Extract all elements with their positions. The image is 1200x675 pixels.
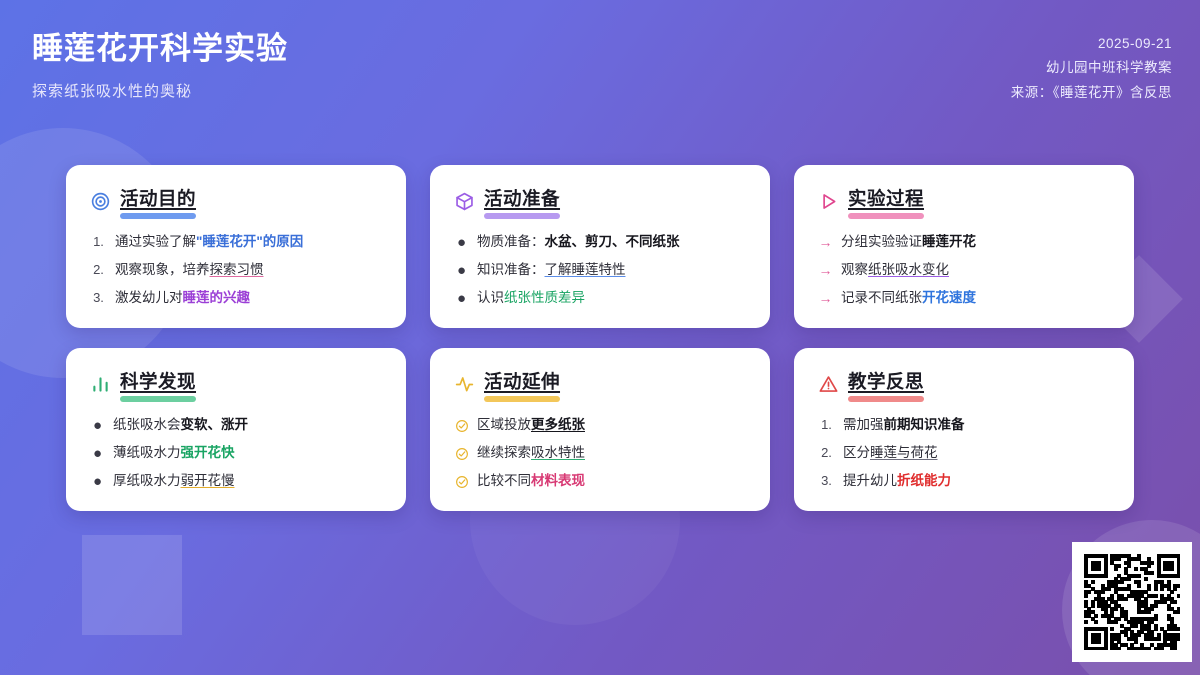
item-highlight: 水盆、剪刀、不同纸张 — [545, 234, 680, 249]
list-marker-bullet: ● — [454, 234, 469, 251]
page-title: 睡莲花开科学实验 — [32, 30, 288, 69]
list-item-text: 区分睡莲与荷花 — [843, 445, 1112, 462]
list-item-text: 提升幼儿折纸能力 — [843, 473, 1112, 490]
card-items: ●纸张吸水会变软、涨开●薄纸吸水力强开花快●厚纸吸水力弱开花慢 — [90, 417, 384, 490]
card-title-underline — [848, 213, 924, 219]
item-text-pre: 比较不同 — [477, 473, 531, 488]
card-items: 1.通过实验了解"睡莲花开"的原因2.观察现象，培养探索习惯3.激发幼儿对睡莲的… — [90, 234, 384, 307]
list-item: 区域投放更多纸张 — [454, 417, 748, 434]
card-title: 活动延伸 — [484, 371, 560, 392]
card-title-underline — [484, 213, 560, 219]
list-item: 2.区分睡莲与荷花 — [818, 445, 1112, 462]
item-highlight: 更多纸张 — [531, 417, 585, 432]
list-marker-number: 3. — [90, 290, 107, 307]
list-item-text: 区域投放更多纸张 — [477, 417, 748, 434]
list-item-text: 比较不同材料表现 — [477, 473, 748, 490]
card-activity-preparation[interactable]: 活动准备●物质准备：水盆、剪刀、不同纸张●知识准备：了解睡莲特性●认识纸张性质差… — [430, 165, 770, 328]
list-item-text: 知识准备：了解睡莲特性 — [477, 262, 748, 279]
list-item: ●纸张吸水会变软、涨开 — [90, 417, 384, 434]
item-highlight: 睡莲的兴趣 — [183, 290, 251, 305]
card-header: 教学反思 — [818, 368, 1112, 401]
item-highlight: 材料表现 — [531, 473, 585, 488]
list-item-text: 物质准备：水盆、剪刀、不同纸张 — [477, 234, 748, 251]
list-item-text: 记录不同纸张开花速度 — [841, 290, 1112, 307]
item-text-pre: 通过实验了解 — [115, 234, 196, 249]
item-text-pre: 知识准备： — [477, 262, 545, 277]
card-items: ●物质准备：水盆、剪刀、不同纸张●知识准备：了解睡莲特性●认识纸张性质差异 — [454, 234, 748, 307]
item-highlight: 吸水特性 — [531, 445, 585, 460]
list-marker-bullet: ● — [454, 290, 469, 307]
item-highlight: "睡莲花开"的原因 — [196, 234, 303, 249]
bar-chart-icon — [90, 374, 111, 395]
card-title-underline — [848, 396, 924, 402]
list-item-text: 通过实验了解"睡莲花开"的原因 — [115, 234, 384, 251]
activity-pulse-icon — [454, 374, 475, 395]
header-meta: 2025-09-21 幼儿园中班科学教案 来源：《睡莲花开》含反思 — [1011, 30, 1172, 101]
item-highlight: 开花速度 — [922, 290, 976, 305]
item-text-pre: 提升幼儿 — [843, 473, 897, 488]
card-items: 区域投放更多纸张继续探索吸水特性比较不同材料表现 — [454, 417, 748, 490]
check-circle-icon — [455, 447, 469, 461]
list-marker-number: 1. — [90, 234, 107, 251]
item-highlight: 前期知识准备 — [884, 417, 965, 432]
list-item: →分组实验验证睡莲开花 — [818, 234, 1112, 251]
item-highlight: 了解睡莲特性 — [545, 262, 626, 277]
play-triangle-icon — [818, 191, 839, 212]
list-item: 1.需加强前期知识准备 — [818, 417, 1112, 434]
list-item-text: 分组实验验证睡莲开花 — [841, 234, 1112, 251]
card-title-underline — [120, 213, 196, 219]
card-title-wrap: 实验过程 — [848, 185, 924, 218]
list-marker-bullet: ● — [90, 417, 105, 434]
decorative-square-left — [82, 535, 182, 635]
item-highlight: 探索习惯 — [210, 262, 264, 277]
item-highlight: 纸张吸水变化 — [868, 262, 949, 277]
list-marker-number: 1. — [818, 417, 835, 434]
list-item: ●厚纸吸水力弱开花慢 — [90, 473, 384, 490]
list-item: ●薄纸吸水力强开花快 — [90, 445, 384, 462]
page-subtitle: 探索纸张吸水性的奥秘 — [32, 80, 288, 101]
slide-header: 睡莲花开科学实验 探索纸张吸水性的奥秘 2025-09-21 幼儿园中班科学教案… — [0, 0, 1200, 140]
card-title: 教学反思 — [848, 371, 924, 392]
item-highlight: 变软、涨开 — [181, 417, 249, 432]
warning-triangle-icon — [818, 374, 839, 395]
item-text-pre: 激发幼儿对 — [115, 290, 183, 305]
item-highlight: 弱开花慢 — [181, 473, 235, 488]
card-title: 实验过程 — [848, 188, 924, 209]
item-highlight: 睡莲与荷花 — [870, 445, 938, 460]
item-highlight: 睡莲开花 — [922, 234, 976, 249]
list-item: 3.提升幼儿折纸能力 — [818, 473, 1112, 490]
list-item: →记录不同纸张开花速度 — [818, 290, 1112, 307]
list-marker-bullet: ● — [454, 262, 469, 279]
item-text-pre: 物质准备： — [477, 234, 545, 249]
card-title-wrap: 科学发现 — [120, 368, 196, 401]
card-header: 实验过程 — [818, 185, 1112, 218]
item-text-pre: 区域投放 — [477, 417, 531, 432]
card-title: 活动目的 — [120, 188, 196, 209]
card-title: 活动准备 — [484, 188, 560, 209]
card-title: 科学发现 — [120, 371, 196, 392]
list-item: →观察纸张吸水变化 — [818, 262, 1112, 279]
slide-root: 睡莲花开科学实验 探索纸张吸水性的奥秘 2025-09-21 幼儿园中班科学教案… — [0, 0, 1200, 675]
list-item: 1.通过实验了解"睡莲花开"的原因 — [90, 234, 384, 251]
card-title-wrap: 活动延伸 — [484, 368, 560, 401]
card-header: 活动准备 — [454, 185, 748, 218]
list-marker-check — [454, 445, 469, 462]
item-highlight: 折纸能力 — [897, 473, 951, 488]
list-marker-arrow: → — [818, 262, 833, 279]
list-item-text: 厚纸吸水力弱开花慢 — [113, 473, 384, 490]
item-highlight: 纸张性质差异 — [504, 290, 585, 305]
item-text-pre: 纸张吸水会 — [113, 417, 181, 432]
item-text-pre: 薄纸吸水力 — [113, 445, 181, 460]
item-text-pre: 认识 — [477, 290, 504, 305]
card-grid: 活动目的1.通过实验了解"睡莲花开"的原因2.观察现象，培养探索习惯3.激发幼儿… — [66, 165, 1134, 511]
list-item-text: 认识纸张性质差异 — [477, 290, 748, 307]
target-icon — [90, 191, 111, 212]
card-title-wrap: 活动目的 — [120, 185, 196, 218]
list-marker-bullet: ● — [90, 445, 105, 462]
list-marker-number: 2. — [90, 262, 107, 279]
check-circle-icon — [455, 419, 469, 433]
list-item: 3.激发幼儿对睡莲的兴趣 — [90, 290, 384, 307]
card-title-underline — [120, 396, 196, 402]
list-item-text: 薄纸吸水力强开花快 — [113, 445, 384, 462]
item-text-pre: 继续探索 — [477, 445, 531, 460]
card-teaching-reflection[interactable]: 教学反思1.需加强前期知识准备2.区分睡莲与荷花3.提升幼儿折纸能力 — [794, 348, 1134, 511]
item-text-pre: 分组实验验证 — [841, 234, 922, 249]
card-activity-purpose[interactable]: 活动目的1.通过实验了解"睡莲花开"的原因2.观察现象，培养探索习惯3.激发幼儿… — [66, 165, 406, 328]
list-marker-arrow: → — [818, 234, 833, 251]
list-item-text: 需加强前期知识准备 — [843, 417, 1112, 434]
cube-icon — [454, 191, 475, 212]
list-marker-number: 2. — [818, 445, 835, 462]
list-item-text: 观察纸张吸水变化 — [841, 262, 1112, 279]
card-title-underline — [484, 396, 560, 402]
card-items: 1.需加强前期知识准备2.区分睡莲与荷花3.提升幼儿折纸能力 — [818, 417, 1112, 490]
qr-code[interactable] — [1084, 554, 1180, 650]
list-item: ●认识纸张性质差异 — [454, 290, 748, 307]
card-experiment-process[interactable]: 实验过程→分组实验验证睡莲开花→观察纸张吸水变化→记录不同纸张开花速度 — [794, 165, 1134, 328]
list-item: ●知识准备：了解睡莲特性 — [454, 262, 748, 279]
card-title-wrap: 活动准备 — [484, 185, 560, 218]
meta-source: 来源：《睡莲花开》含反思 — [1011, 81, 1172, 101]
list-item: 继续探索吸水特性 — [454, 445, 748, 462]
item-text-pre: 需加强 — [843, 417, 884, 432]
card-header: 活动目的 — [90, 185, 384, 218]
card-science-findings[interactable]: 科学发现●纸张吸水会变软、涨开●薄纸吸水力强开花快●厚纸吸水力弱开花慢 — [66, 348, 406, 511]
card-items: →分组实验验证睡莲开花→观察纸张吸水变化→记录不同纸张开花速度 — [818, 234, 1112, 307]
list-item: ●物质准备：水盆、剪刀、不同纸张 — [454, 234, 748, 251]
list-marker-check — [454, 417, 469, 434]
item-text-pre: 记录不同纸张 — [841, 290, 922, 305]
list-marker-check — [454, 473, 469, 490]
list-marker-number: 3. — [818, 473, 835, 490]
list-item-text: 激发幼儿对睡莲的兴趣 — [115, 290, 384, 307]
item-highlight: 强开花快 — [181, 445, 235, 460]
item-text-pre: 厚纸吸水力 — [113, 473, 181, 488]
list-marker-arrow: → — [818, 290, 833, 307]
item-text-pre: 观察现象，培养 — [115, 262, 210, 277]
item-text-pre: 观察 — [841, 262, 868, 277]
card-title-wrap: 教学反思 — [848, 368, 924, 401]
list-marker-bullet: ● — [90, 473, 105, 490]
card-header: 科学发现 — [90, 368, 384, 401]
list-item-text: 观察现象，培养探索习惯 — [115, 262, 384, 279]
card-activity-extension[interactable]: 活动延伸区域投放更多纸张继续探索吸水特性比较不同材料表现 — [430, 348, 770, 511]
list-item: 比较不同材料表现 — [454, 473, 748, 490]
meta-category: 幼儿园中班科学教案 — [1046, 56, 1172, 76]
check-circle-icon — [455, 475, 469, 489]
card-header: 活动延伸 — [454, 368, 748, 401]
list-item: 2.观察现象，培养探索习惯 — [90, 262, 384, 279]
meta-date: 2025-09-21 — [1098, 36, 1172, 51]
list-item-text: 纸张吸水会变软、涨开 — [113, 417, 384, 434]
list-item-text: 继续探索吸水特性 — [477, 445, 748, 462]
item-text-pre: 区分 — [843, 445, 870, 460]
header-left: 睡莲花开科学实验 探索纸张吸水性的奥秘 — [32, 30, 288, 101]
